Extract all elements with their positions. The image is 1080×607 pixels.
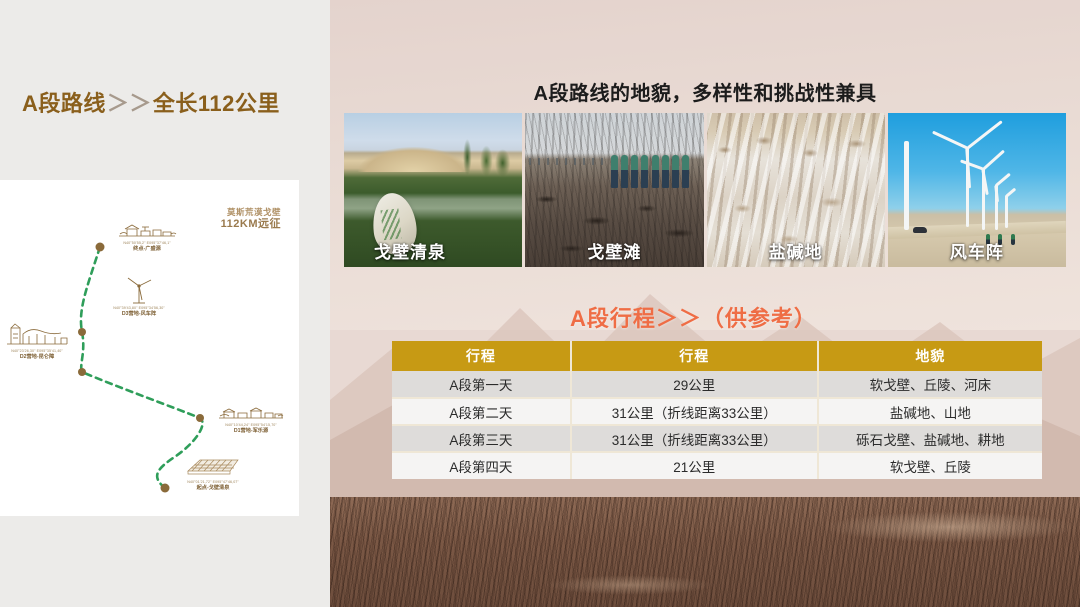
route-node-d1[interactable] [196,414,204,422]
village-icon [115,220,179,240]
photo-wind-farm[interactable]: 风车阵 [888,113,1066,267]
route-map-card: 莫斯荒漠戈壁 112KM远征 [0,180,299,516]
poi-name: D3营地-风车阵 [96,311,182,318]
photo-gobi-plain[interactable]: 戈壁滩 [525,113,703,267]
col-header-distance: 行程 [571,341,818,371]
left-panel: A段路线＞＞全长112公里 莫斯荒漠戈壁 112KM远征 [0,0,330,607]
left-title: A段路线＞＞全长112公里 [22,86,280,118]
wind-turbine-icon [982,168,985,230]
poi-name: 终点-广盛源 [108,246,186,253]
route-node-start[interactable] [161,484,170,493]
long-building-icon [182,455,244,479]
poi-camp-d1[interactable]: N40°10'44,24" E095°54'15,70" D1营地-军乐源 [208,402,294,435]
cell-day: A段第一天 [392,371,571,398]
cell-terrain: 砾石戈壁、盐碱地、耕地 [818,425,1042,452]
table-header-row: 行程 行程 地貌 [392,341,1042,371]
poi-name: D1营地-军乐源 [208,428,294,435]
cell-terrain: 软戈壁、丘陵、河床 [818,371,1042,398]
photo-caption: 戈壁清泉 [344,238,522,263]
photo-gobi-spring[interactable]: 戈壁清泉 [344,113,522,267]
cell-distance: 31公里（折线距离33公里） [571,425,818,452]
wind-turbine-icon [1005,195,1008,229]
cell-day: A段第三天 [392,425,571,452]
vehicle-icon [913,227,927,233]
route-node-d2[interactable] [78,368,86,376]
route-map: 莫斯荒漠戈壁 112KM远征 [0,180,299,516]
photo-caption: 戈壁滩 [525,238,703,263]
slide-root: A段路线＞＞全长112公里 莫斯荒漠戈壁 112KM远征 [0,0,1080,607]
poi-camp-d3[interactable]: N40°39'43,80" E095°34'56,30" D3营地-风车阵 [96,275,182,318]
poi-start-point[interactable]: N40°01'21,72" E095°47'46,07" 起点-戈壁清泉 [170,455,256,492]
cell-distance: 31公里（折线距离33公里） [571,398,818,425]
cell-terrain: 软戈壁、丘陵 [818,452,1042,479]
left-title-suffix: 全长112公里 [153,91,280,116]
cell-day: A段第二天 [392,398,571,425]
photo-saline-land[interactable]: 盐碱地 [707,113,885,267]
poi-camp-d2[interactable]: N40°23'26,30" E095°35'41,40" D2营地-昆仑障 [0,320,76,361]
wind-turbine-icon [995,184,998,230]
cell-distance: 21公里 [571,452,818,479]
poi-end-point[interactable]: N40°50'55,2" E095°37'46,1" 终点-广盛源 [108,220,186,253]
hiker-group [611,155,689,189]
settlement-icon [216,402,286,422]
photo-caption: 盐碱地 [707,238,885,263]
wind-turbine-icon [966,147,969,227]
ruins-icon [5,320,69,348]
wind-turbine-icon [904,141,909,230]
route-node-d3[interactable] [78,328,86,336]
cell-distance: 29公里 [571,371,818,398]
photo-caption: 风车阵 [888,238,1066,263]
wind-turbine-icon [122,275,156,305]
photo-strip: 戈壁清泉 戈壁滩 盐碱地 [344,113,1066,267]
poi-name: D2营地-昆仑障 [0,354,76,361]
itinerary-table-wrap: 行程 行程 地貌 A段第一天 29公里 软戈壁、丘陵、河床 A段第二天 31公里… [392,341,1042,479]
table-row: A段第二天 31公里（折线距离33公里） 盐碱地、山地 [392,398,1042,425]
poi-name: 起点-戈壁清泉 [170,485,256,492]
col-header-terrain: 地貌 [818,341,1042,371]
table-row: A段第一天 29公里 软戈壁、丘陵、河床 [392,371,1042,398]
col-header-day: 行程 [392,341,571,371]
left-title-arrow: ＞＞ [106,91,153,116]
itinerary-title: A段行程＞＞（供参考） [570,301,817,333]
left-title-prefix: A段路线 [22,91,106,116]
background-gravel-ground [330,497,1080,607]
itinerary-table: 行程 行程 地貌 A段第一天 29公里 软戈壁、丘陵、河床 A段第二天 31公里… [392,341,1042,479]
route-node-end[interactable] [96,243,105,252]
cell-terrain: 盐碱地、山地 [818,398,1042,425]
cell-day: A段第四天 [392,452,571,479]
table-row: A段第四天 21公里 软戈壁、丘陵 [392,452,1042,479]
section-heading: A段路线的地貌，多样性和挑战性兼具 [330,77,1080,106]
table-row: A段第三天 31公里（折线距离33公里） 砾石戈壁、盐碱地、耕地 [392,425,1042,452]
right-panel: A段路线的地貌，多样性和挑战性兼具 戈壁清泉 [330,0,1080,607]
